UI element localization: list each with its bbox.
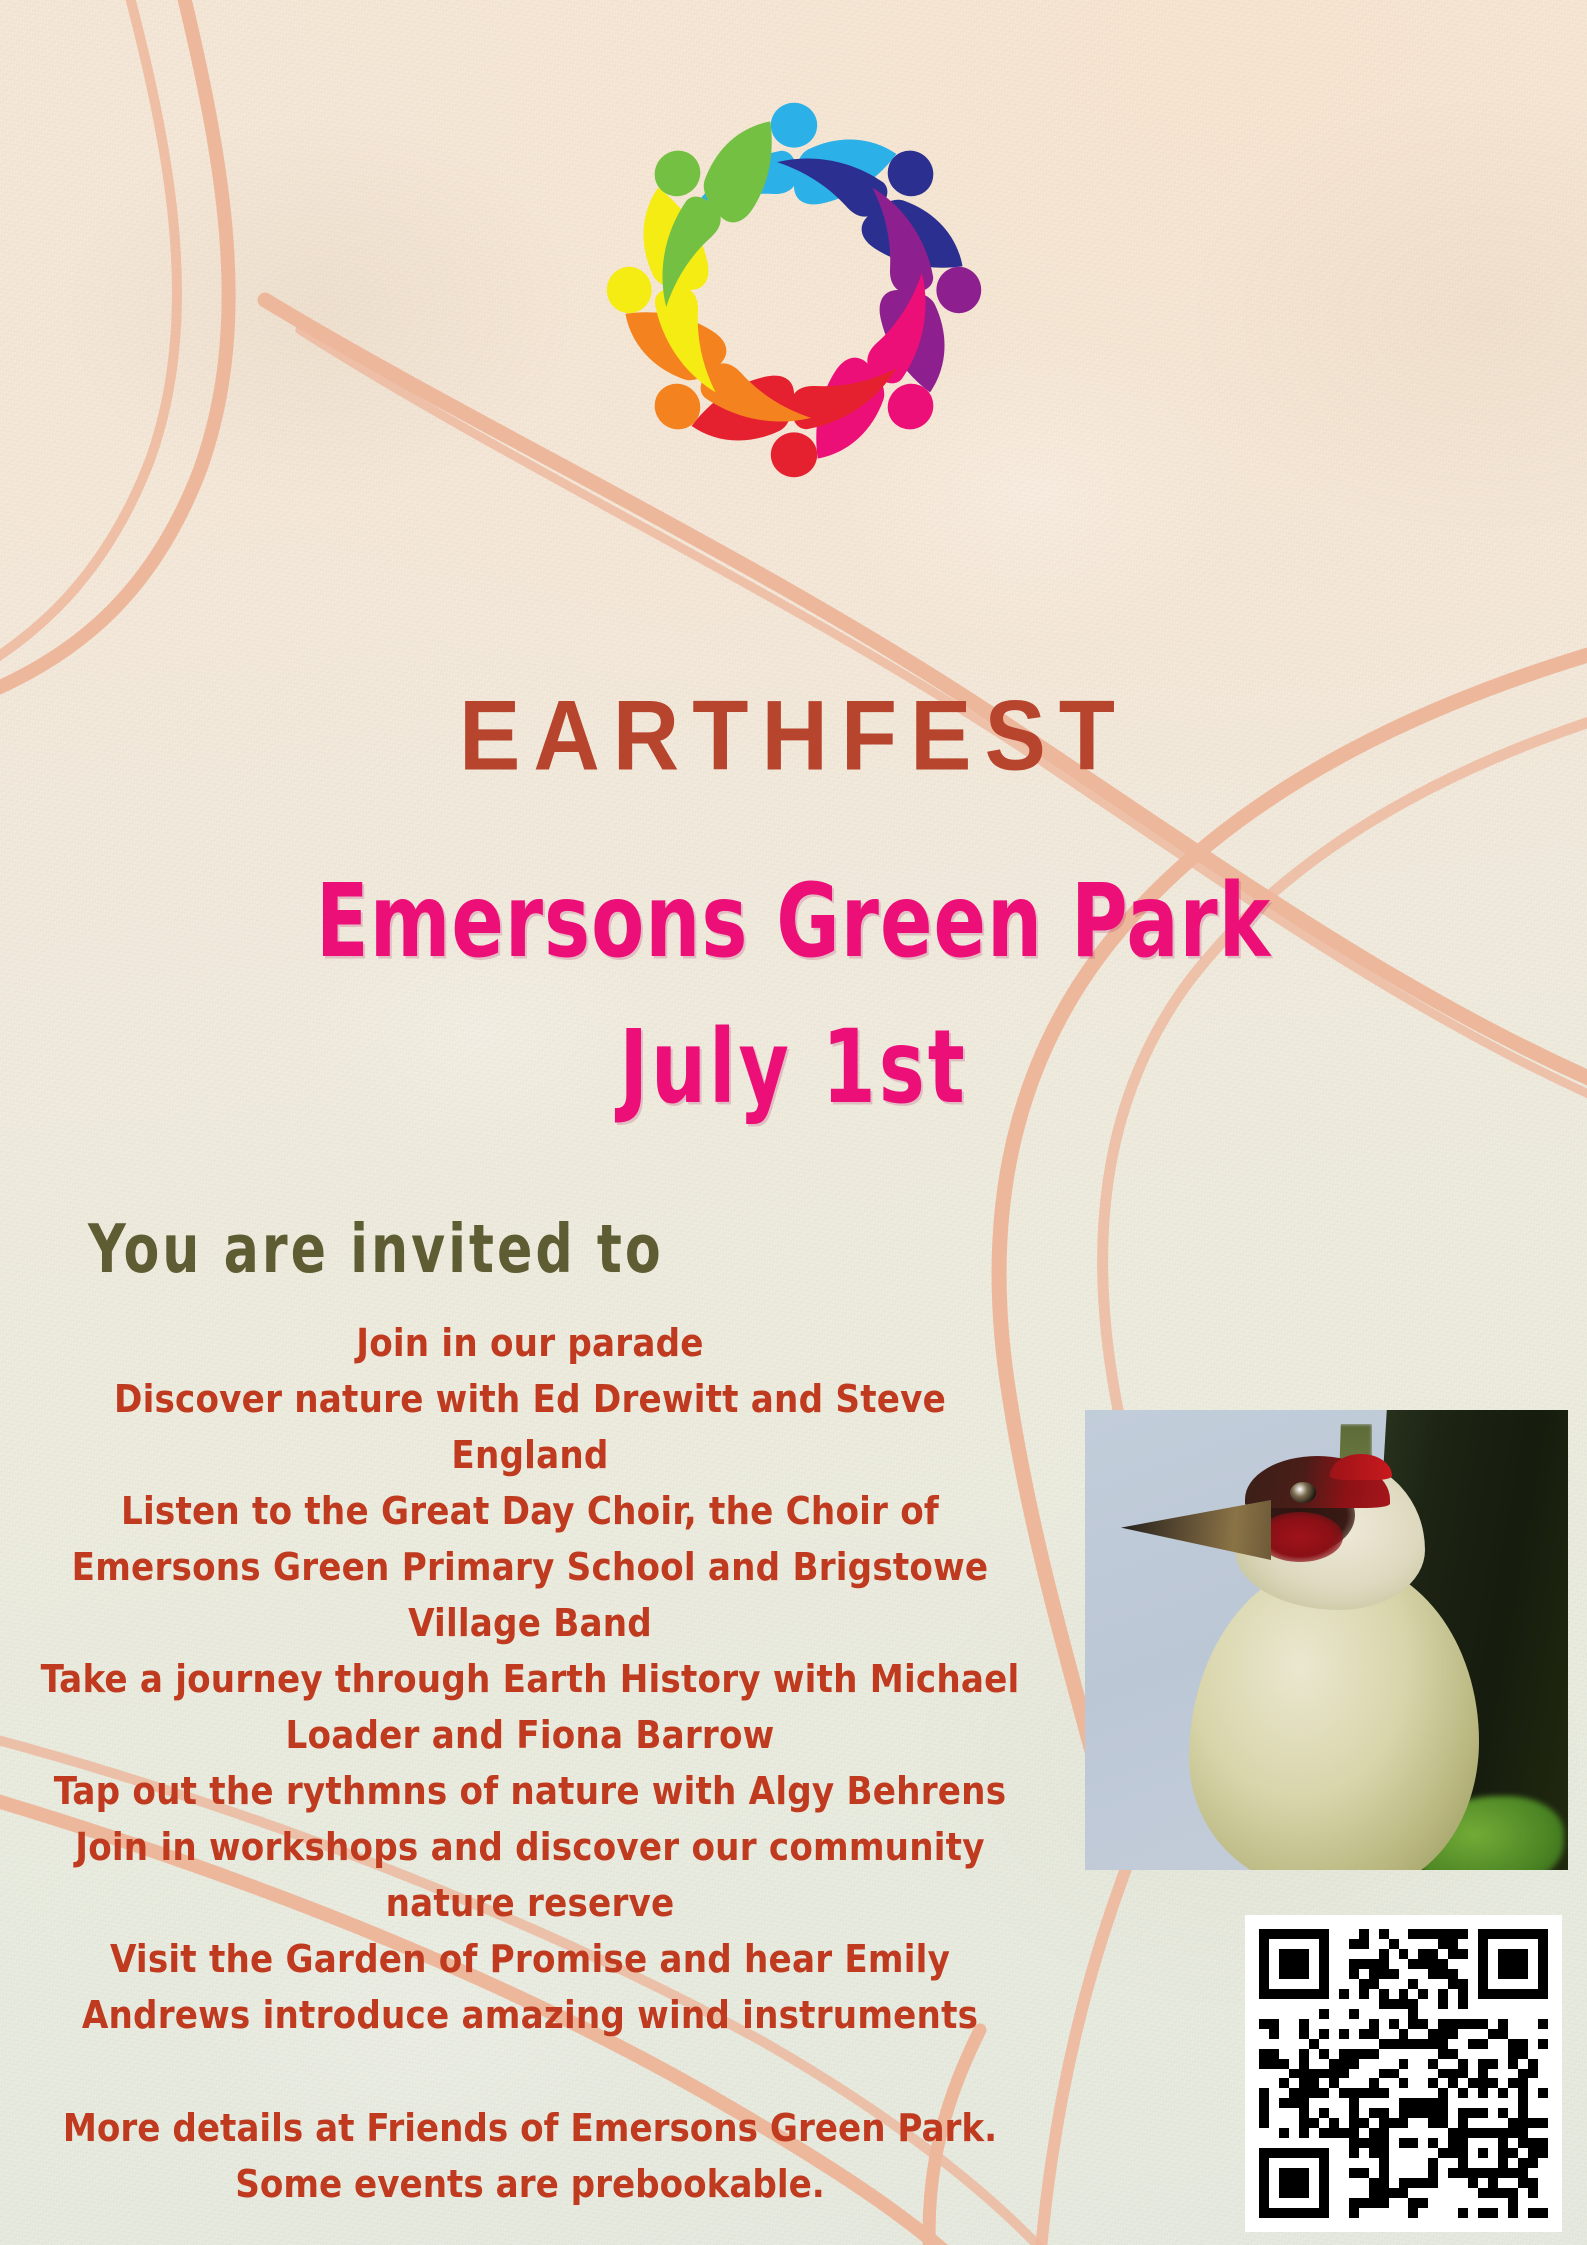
poster-canvas: EARTHFEST Emersons Green Park July 1st Y…: [0, 0, 1587, 2245]
list-item: Emersons Green Primary School and Brigst…: [20, 1539, 1040, 1595]
list-item: Andrews introduce amazing wind instrumen…: [20, 1987, 1040, 2043]
list-item: Tap out the rythmns of nature with Algy …: [20, 1763, 1040, 1819]
list-item: England: [20, 1427, 1040, 1483]
event-location-heading: Emersons Green Park: [0, 863, 1587, 981]
list-item: Village Band: [20, 1595, 1040, 1651]
earthfest-wordmark-text: EARTHFEST: [459, 680, 1128, 793]
earthfest-logo: [559, 78, 1029, 503]
invitation-label: You are invited to: [88, 1210, 664, 1288]
footer-note: More details at Friends of Emersons Gree…: [20, 2100, 1040, 2212]
photo-bird-eye: [1290, 1482, 1316, 1503]
activities-list: Join in our parade Discover nature with …: [20, 1315, 1040, 2043]
qr-code-modules: [1259, 1929, 1548, 2218]
footer-line: More details at Friends of Emersons Gree…: [20, 2100, 1040, 2156]
list-item: Listen to the Great Day Choir, the Choir…: [20, 1483, 1040, 1539]
footer-line: Some events are prebookable.: [20, 2156, 1040, 2212]
list-item: Join in workshops and discover our commu…: [20, 1819, 1040, 1875]
earthfest-wordmark: EARTHFEST: [0, 680, 1587, 793]
list-item: Discover nature with Ed Drewitt and Stev…: [20, 1371, 1040, 1427]
circle-of-people-logo-icon: [559, 78, 1029, 503]
list-item: Visit the Garden of Promise and hear Emi…: [20, 1931, 1040, 1987]
list-item: Join in our parade: [20, 1315, 1040, 1371]
qr-code[interactable]: [1245, 1915, 1562, 2232]
green-woodpecker-photo: [1085, 1410, 1568, 1870]
event-date-heading: July 1st: [0, 1009, 1587, 1127]
list-item: Take a journey through Earth History wit…: [20, 1651, 1040, 1707]
list-item: nature reserve: [20, 1875, 1040, 1931]
list-item: Loader and Fiona Barrow: [20, 1707, 1040, 1763]
